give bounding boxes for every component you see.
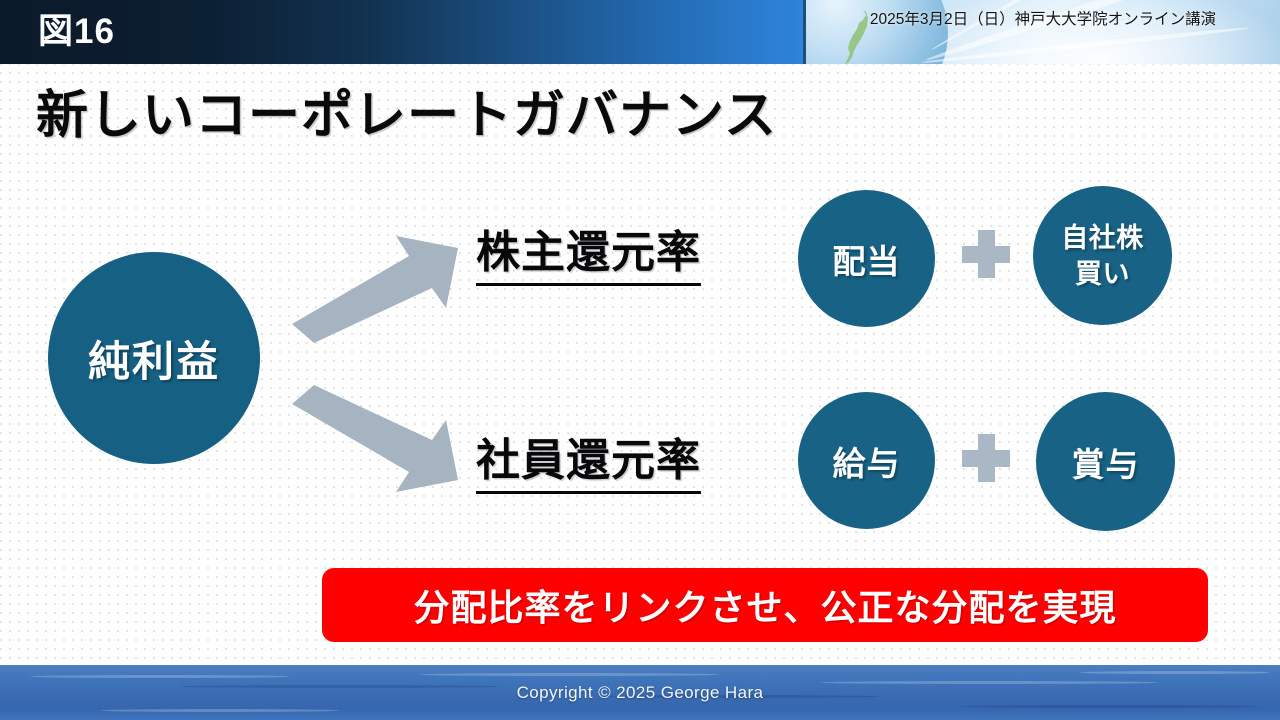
figure-number-label: 図16: [38, 8, 115, 56]
copyright-text: Copyright © 2025 George Hara: [0, 665, 1280, 720]
branch-label-shareholder-return: 株主還元率: [476, 216, 701, 286]
plus-bar-vertical: [978, 434, 995, 482]
conclusion-banner: 分配比率をリンクさせ、公正な分配を実現: [322, 568, 1208, 642]
branch-label-employee-return: 社員還元率: [476, 424, 701, 494]
slide-canvas: 図16 2025年3月2日（日）神戸大大学院オンライン講演 新しいコーポレートガ…: [0, 0, 1280, 720]
arrow-to-shareholder-icon: [286, 236, 476, 346]
conclusion-banner-text: 分配比率をリンクさせ、公正な分配を実現: [413, 579, 1116, 631]
plus-icon-shareholder: [962, 230, 1010, 278]
slide-header: 図16 2025年3月2日（日）神戸大大学院オンライン講演: [0, 0, 1280, 64]
node-share-buyback-label: 自社株 買い: [1061, 220, 1144, 292]
arrow-to-employee-icon: [286, 382, 476, 492]
lecture-date-text: 2025年3月2日（日）神戸大大学院オンライン講演: [806, 0, 1280, 64]
plus-bar-vertical: [978, 230, 995, 278]
node-net-profit: 純利益: [48, 252, 260, 464]
page-title: 新しいコーポレートガバナンス: [36, 86, 777, 146]
node-bonus-label: 賞与: [1072, 438, 1140, 486]
node-share-buyback-line2: 買い: [1075, 259, 1130, 289]
node-dividend-label: 配当: [833, 235, 901, 283]
header-photo-banner: 2025年3月2日（日）神戸大大学院オンライン講演: [806, 0, 1280, 64]
node-share-buyback: 自社株 買い: [1033, 186, 1172, 325]
plus-icon-employee: [962, 434, 1010, 482]
node-salary-label: 給与: [833, 437, 901, 485]
node-share-buyback-line1: 自社株: [1061, 223, 1144, 253]
node-bonus: 賞与: [1036, 392, 1175, 531]
node-dividend: 配当: [798, 190, 935, 327]
header-gradient-bar: 図16: [0, 0, 806, 64]
node-salary: 給与: [798, 392, 935, 529]
node-net-profit-label: 純利益: [88, 328, 220, 389]
slide-footer: Copyright © 2025 George Hara: [0, 665, 1280, 720]
